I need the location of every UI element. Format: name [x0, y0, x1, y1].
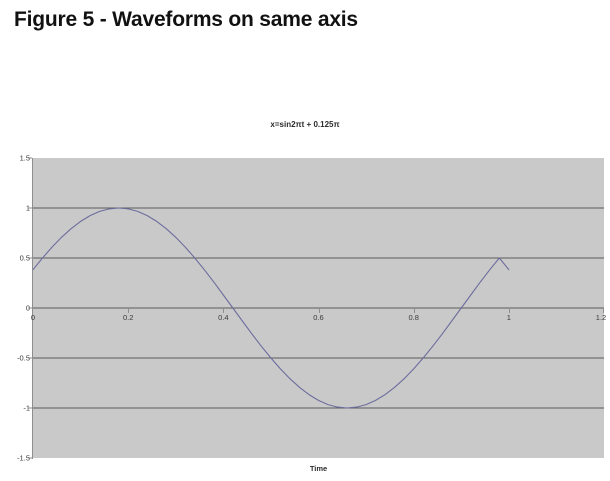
y-axis-tick-mark [28, 408, 32, 409]
x-axis-tick-label: 0 [31, 313, 35, 322]
y-axis-tick-label: 1 [2, 204, 30, 213]
x-axis-tick-mark [128, 309, 129, 313]
y-axis-tick-label: -0.5 [2, 354, 30, 363]
plot-area [33, 158, 604, 458]
y-axis-tick-label: 1.5 [2, 154, 30, 163]
y-axis-tick-mark [28, 358, 32, 359]
y-axis-tick-label: 0.5 [2, 254, 30, 263]
y-axis-tick-label: 0 [2, 304, 30, 313]
y-axis-tick-label: -1.5 [2, 454, 30, 463]
y-axis-spine [32, 158, 33, 459]
x-axis-tick-mark [223, 309, 224, 313]
y-axis-tick-mark [28, 258, 32, 259]
x-axis-tick-mark [509, 309, 510, 313]
x-axis-tick-label: 0.4 [218, 313, 228, 322]
x-axis-tick-label: 1 [507, 313, 511, 322]
y-axis-tick-mark [28, 308, 32, 309]
chart-title: x=sin2πt + 0.125π [0, 120, 610, 129]
x-axis-tick-label: 1.2 [596, 313, 606, 322]
x-axis-tick-label: 0.8 [408, 313, 418, 322]
y-axis-tick-mark [28, 158, 32, 159]
waveform-chart: x=sin2πt + 0.125π 1.510.50-0.5-1-1.5 00.… [0, 0, 610, 481]
plot-svg [33, 158, 604, 458]
y-axis-labels: 1.510.50-0.5-1-1.5 [0, 158, 30, 458]
x-axis-tick-mark [414, 309, 415, 313]
gridlines [33, 208, 604, 408]
y-axis-tick-label: -1 [2, 404, 30, 413]
x-axis-title: Time [33, 464, 604, 473]
x-axis-labels: 00.20.40.60.811.2 [33, 313, 604, 327]
y-axis-tick-mark [28, 458, 32, 459]
x-axis-tick-label: 0.6 [313, 313, 323, 322]
y-axis-tick-mark [28, 208, 32, 209]
x-axis-tick-label: 0.2 [123, 313, 133, 322]
x-axis-tick-mark [603, 309, 604, 313]
x-axis-tick-mark [319, 309, 320, 313]
